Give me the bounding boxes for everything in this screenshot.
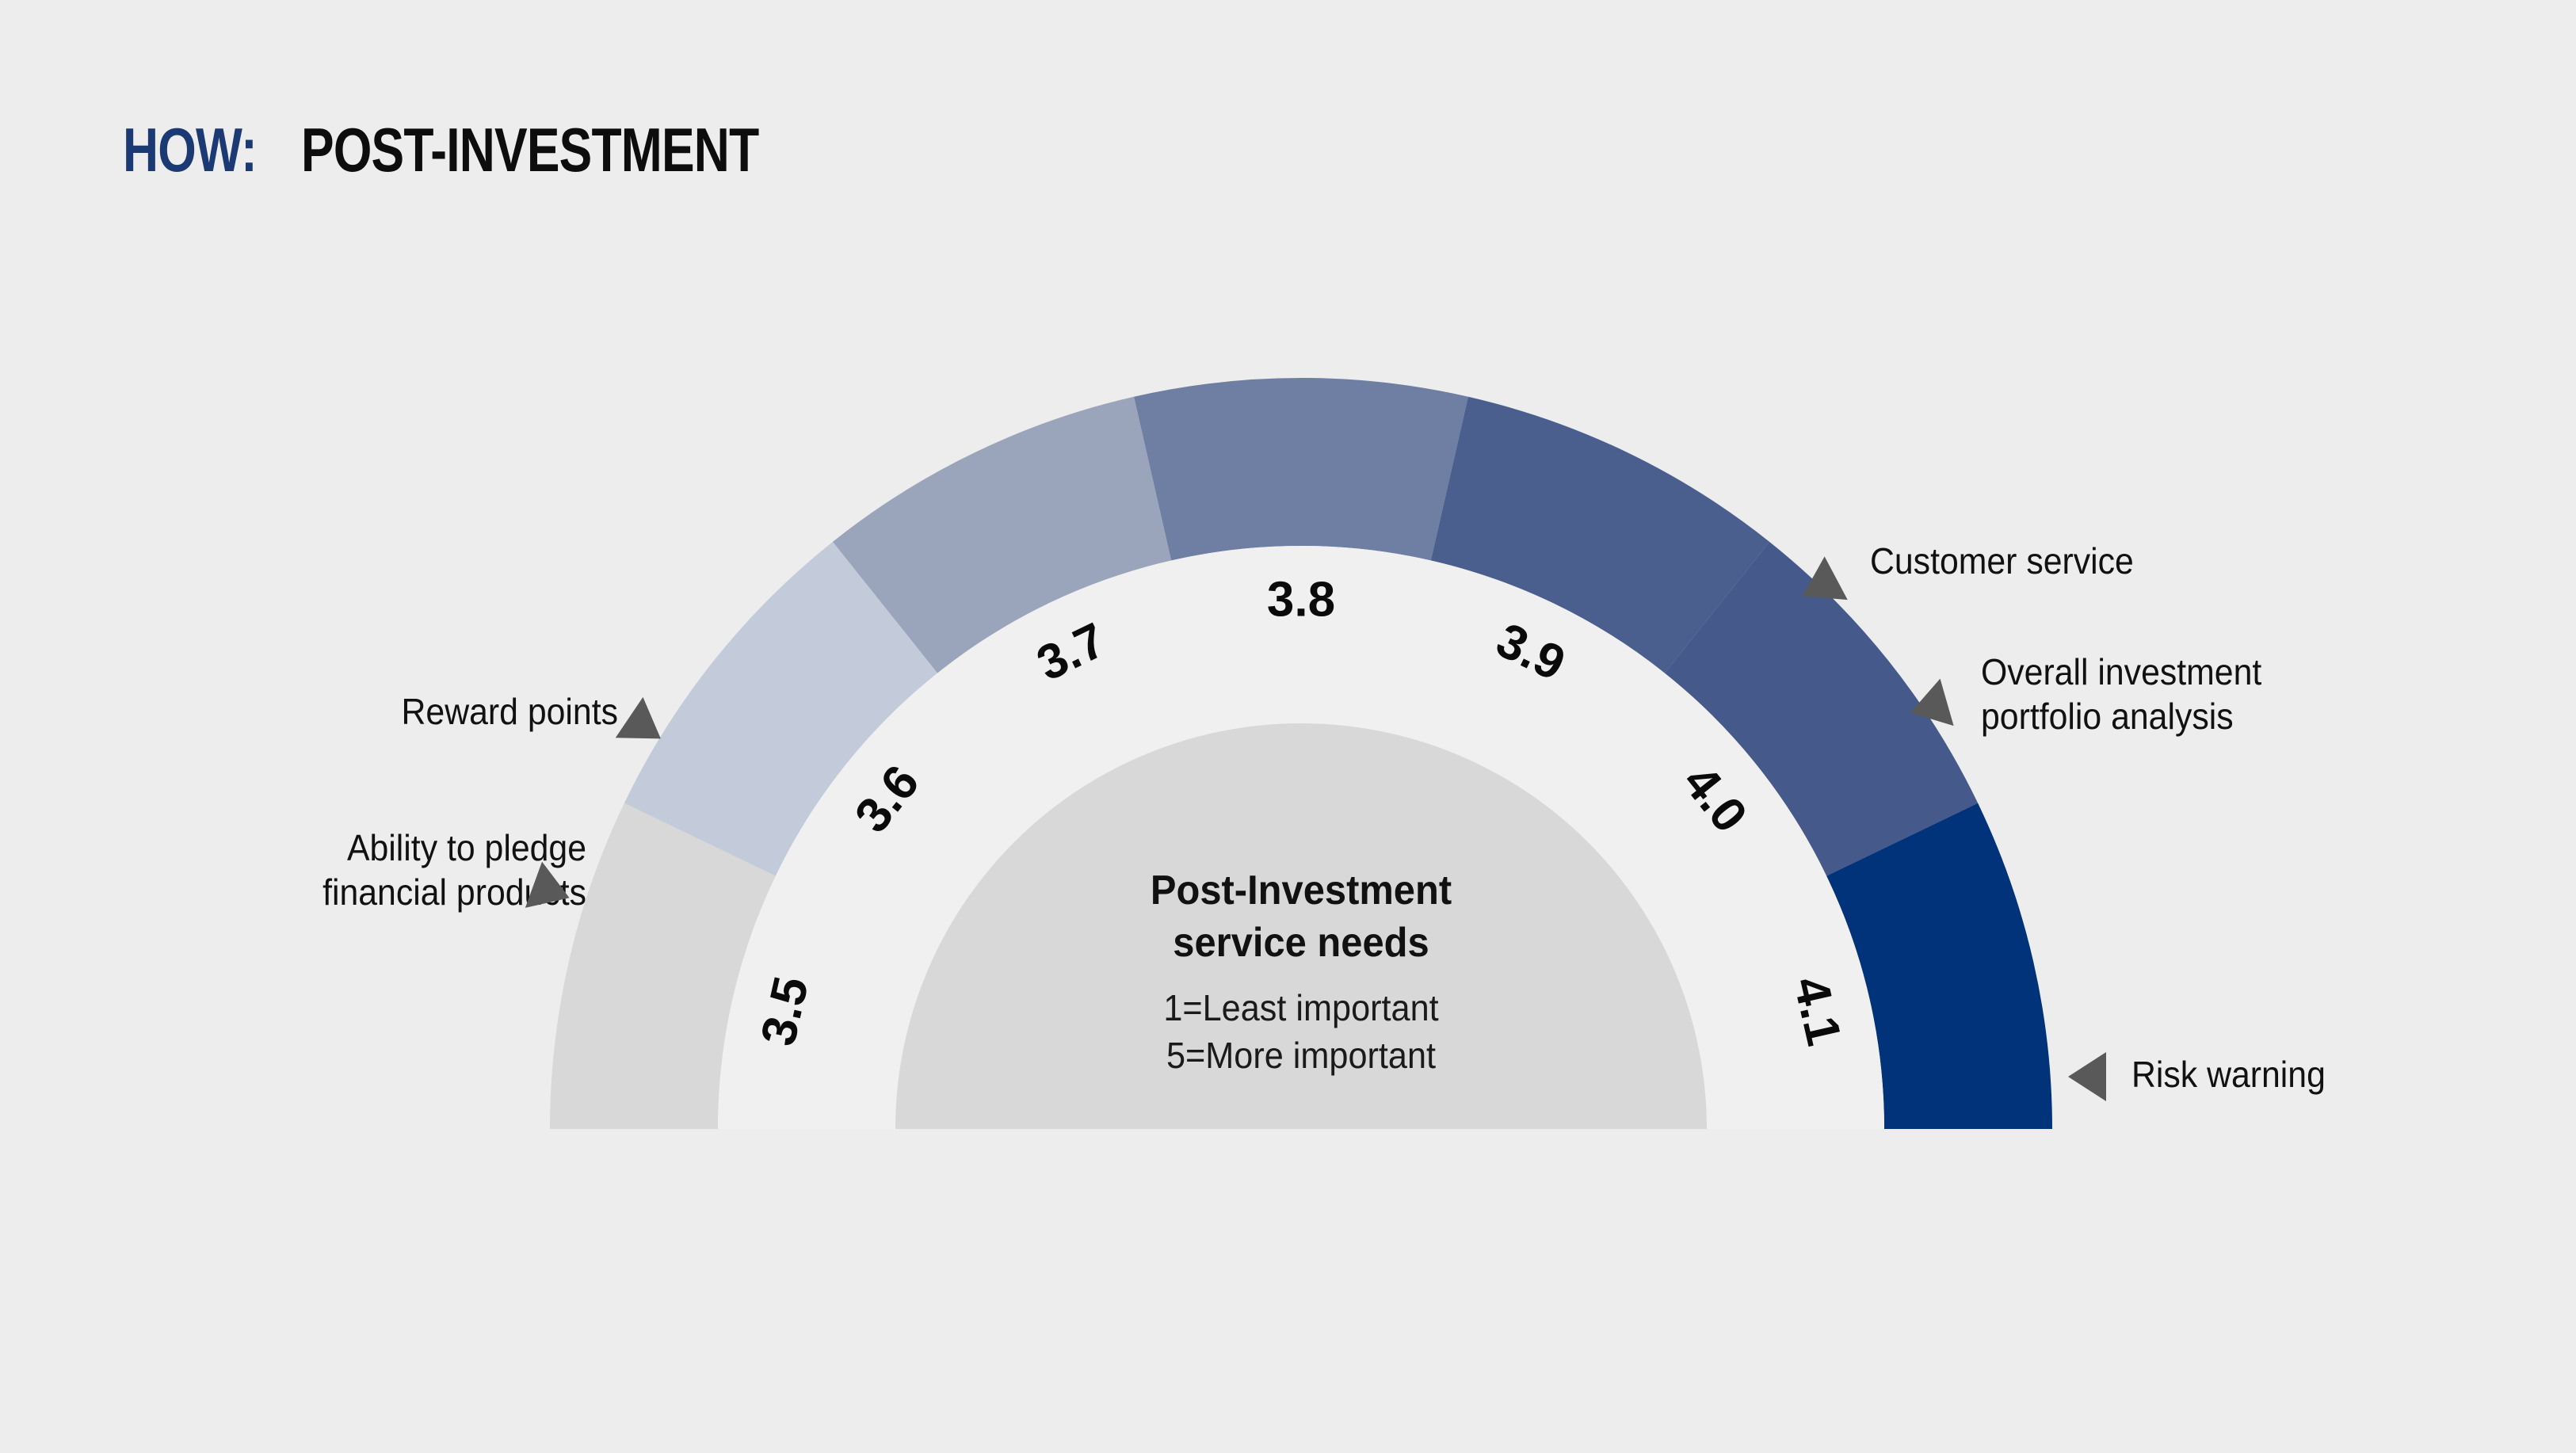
callout-overall-portfolio: Overall investment portfolio analysis bbox=[1981, 650, 2467, 738]
ring-segment bbox=[1134, 378, 1468, 560]
callout-customer-service: Customer service bbox=[1870, 539, 2341, 583]
callout-reward-points: Reward points bbox=[161, 689, 618, 734]
callout-risk-warning: Risk warning bbox=[2131, 1052, 2574, 1096]
callout-ability-to-pledge: Ability to pledge financial products bbox=[129, 826, 586, 914]
pointer-risk-warning-icon bbox=[2068, 1052, 2106, 1101]
segment-value-label: 3.8 bbox=[1267, 573, 1335, 627]
